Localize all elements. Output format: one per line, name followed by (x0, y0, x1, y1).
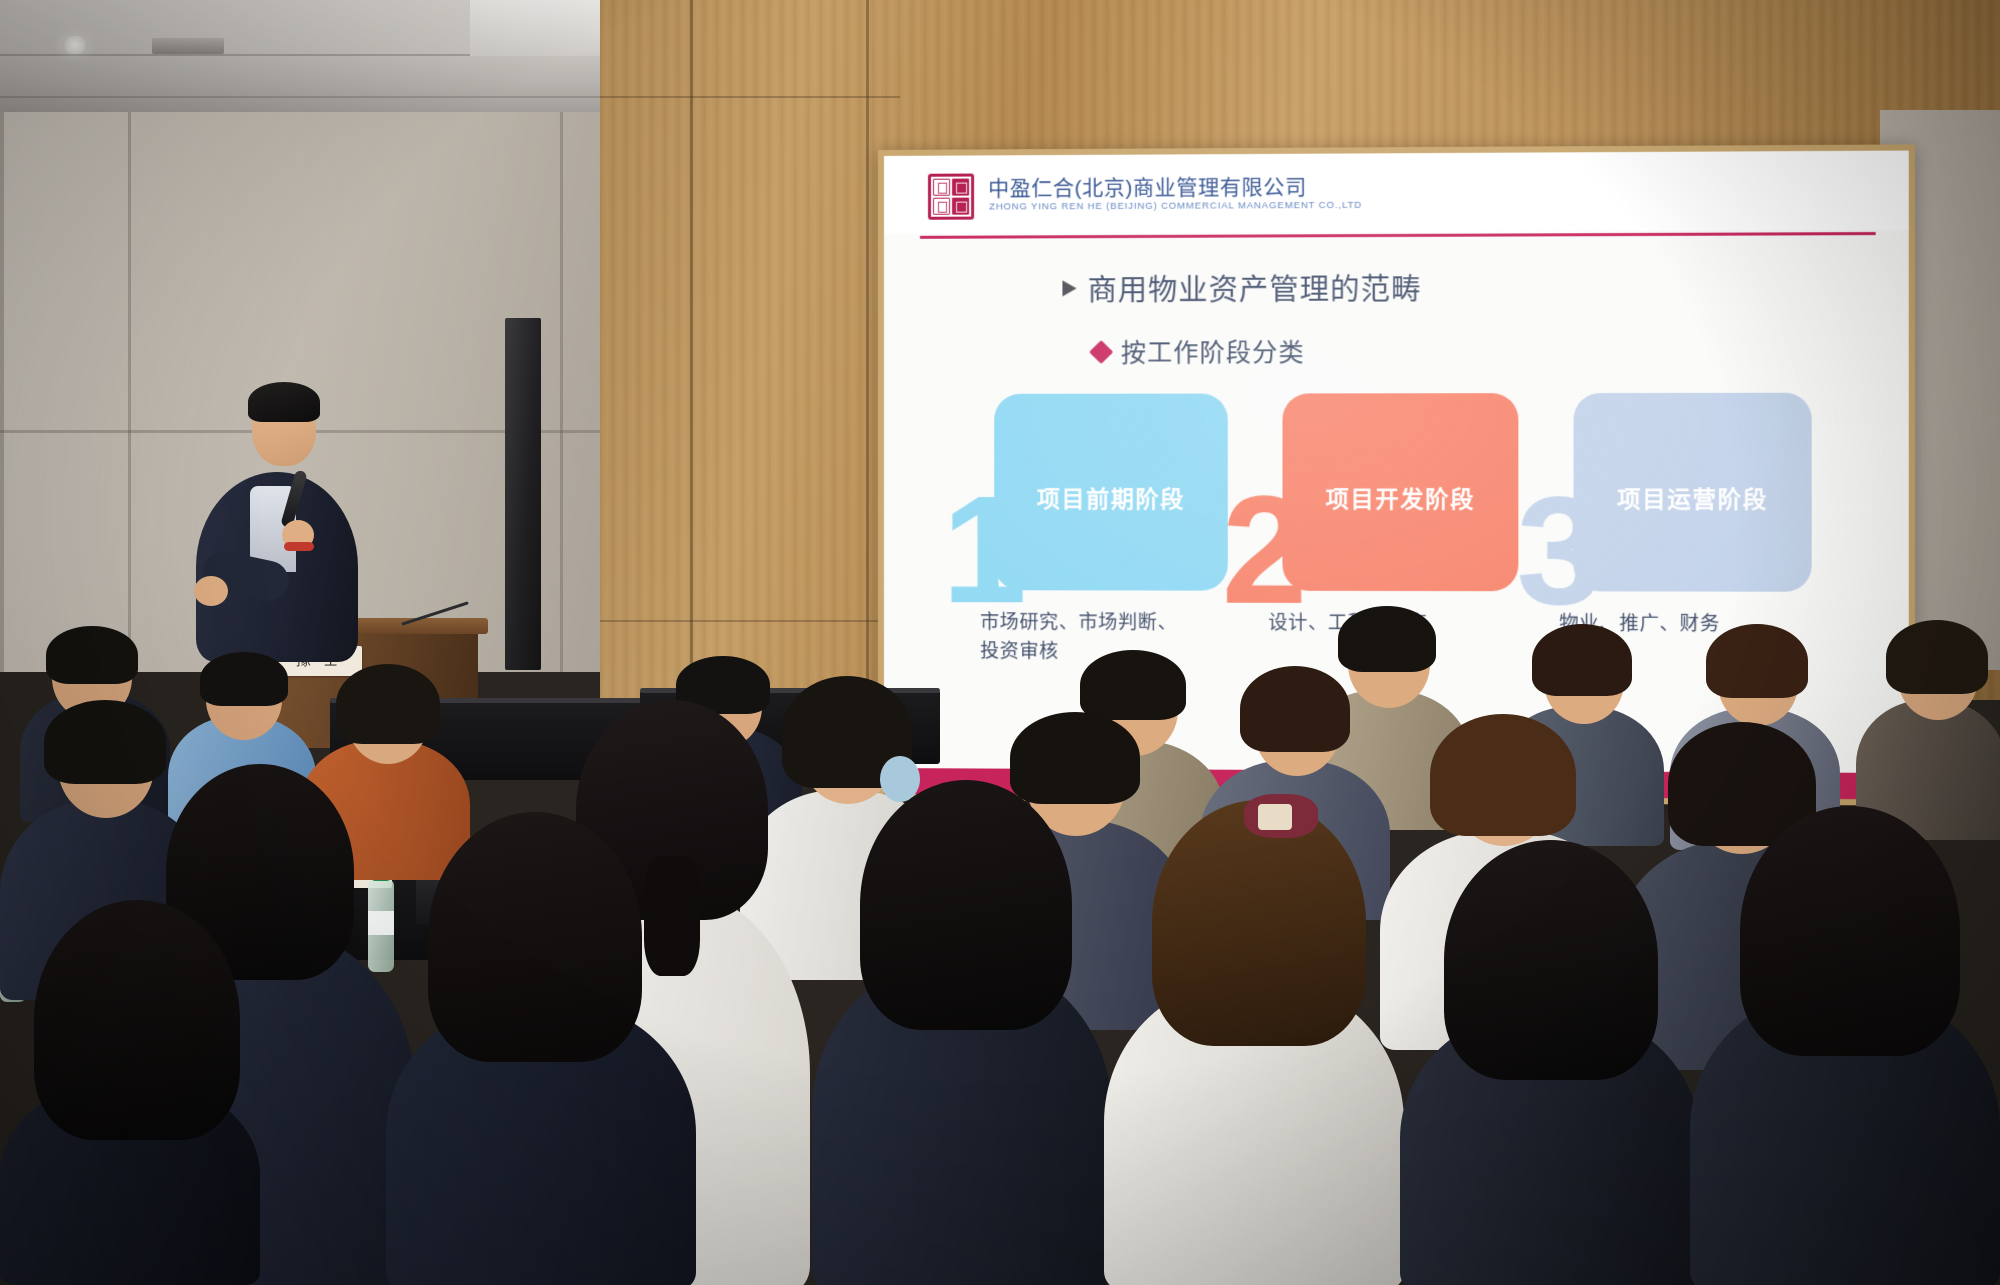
stage-label: 项目运营阶段 (1574, 480, 1812, 515)
wall-seam (0, 430, 640, 433)
water-bottle (368, 880, 394, 972)
stage-card: 2 项目开发阶段 (1282, 393, 1518, 591)
speaker-column (505, 318, 541, 670)
wall-seam (0, 112, 4, 672)
slide-heading: 商用物业资产管理的范畴 (1062, 266, 1421, 309)
presenter-hair (248, 382, 320, 422)
wall-seam (128, 112, 131, 672)
slide-subheading: 按工作阶段分类 (1093, 333, 1305, 370)
stage-label: 项目开发阶段 (1282, 480, 1518, 514)
wood-panel-seam (600, 620, 900, 622)
presenter-wristband (284, 542, 314, 551)
wood-panel-seam (866, 0, 869, 700)
presentation-room-photo: 中盈仁合(北京)商业管理有限公司 ZHONG YING REN HE (BEIJ… (0, 0, 2000, 1285)
brand-name-chinese: 中盈仁合(北京)商业管理有限公司 (988, 171, 1307, 203)
triangle-bullet-icon (1062, 280, 1076, 296)
stage-label: 项目前期阶段 (994, 480, 1228, 514)
wall-seam (560, 112, 563, 672)
ceiling-seam (0, 54, 470, 56)
stage-card: 3 项目运营阶段 (1574, 393, 1812, 592)
company-seal-logo (928, 174, 974, 220)
bottle-label (368, 911, 394, 935)
wood-panel-seam (600, 96, 900, 98)
stage-card: 1 项目前期阶段 (994, 394, 1228, 591)
presenter-hand (194, 576, 228, 606)
stage-cards: 1 项目前期阶段 2 项目开发阶段 3 项目运营阶段 (976, 393, 1851, 606)
wood-panel-seam (690, 0, 693, 700)
slide-heading-text: 商用物业资产管理的范畴 (1088, 266, 1422, 309)
brand-name-english: ZHONG YING REN HE (BEIJING) COMMERCIAL M… (989, 200, 1362, 213)
ceiling-vent (152, 38, 224, 54)
slide-header: 中盈仁合(北京)商业管理有限公司 ZHONG YING REN HE (BEIJ… (884, 151, 1909, 234)
diamond-bullet-icon (1089, 339, 1113, 363)
downlight-icon (62, 36, 88, 54)
slide-subheading-text: 按工作阶段分类 (1121, 333, 1305, 370)
